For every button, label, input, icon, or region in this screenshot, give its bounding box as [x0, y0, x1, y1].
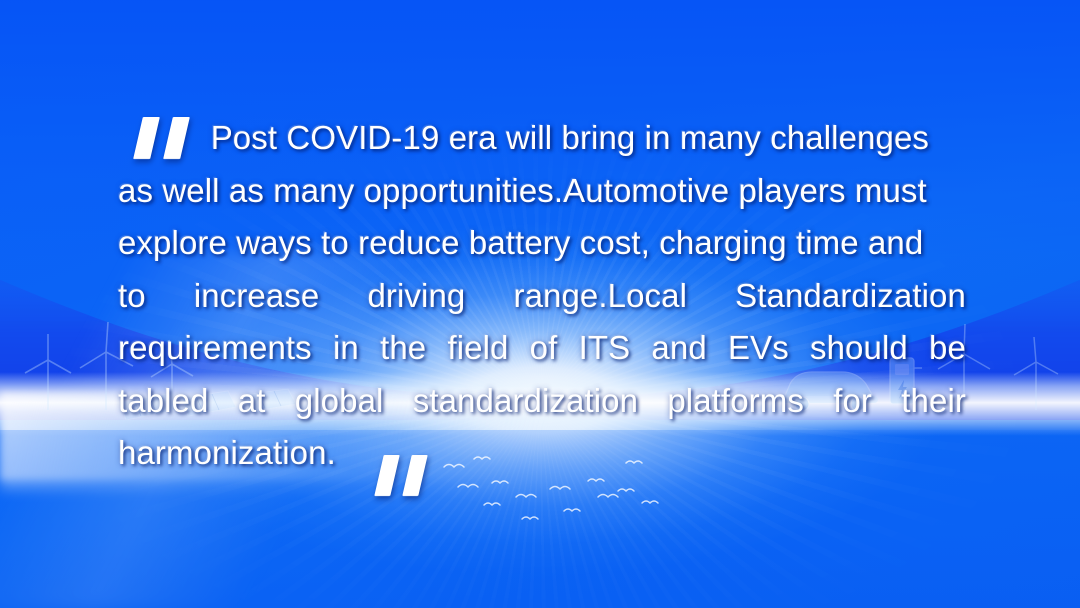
quote-word: era	[449, 112, 497, 165]
quote-text-block: Post COVID-19 era will bring in many cha…	[118, 112, 966, 480]
quote-word-space	[729, 165, 738, 218]
quote-word: will	[506, 112, 552, 165]
quote-word: cost,	[580, 217, 650, 270]
quote-word: COVID-19	[286, 112, 439, 165]
quote-word: in	[333, 322, 359, 375]
quote-word: for	[833, 375, 872, 428]
quote-word-space	[671, 112, 680, 165]
quote-word: ways	[236, 217, 312, 270]
quote-word: of	[530, 322, 558, 375]
quote-word: requirements	[118, 322, 312, 375]
quote-word-space	[460, 217, 469, 270]
quote-word: must	[855, 165, 927, 218]
quote-word: standardization	[413, 375, 638, 428]
quote-word: should	[810, 322, 908, 375]
quote-word-space	[153, 165, 162, 218]
quote-word-space	[264, 165, 273, 218]
quote-word-space	[227, 217, 236, 270]
quote-word: increase	[194, 270, 320, 323]
quote-word-space	[635, 112, 644, 165]
quote-word-space	[761, 112, 770, 165]
quote-slide: Post COVID-19 era will bring in many cha…	[0, 0, 1080, 608]
quote-word: ITS	[579, 322, 631, 375]
quote-word: at	[238, 375, 266, 428]
quote-word-space	[439, 112, 448, 165]
quote-word: opportunities.Automotive	[364, 165, 730, 218]
quote-word-space	[220, 165, 229, 218]
quote-word: battery	[469, 217, 571, 270]
quote-word: bring	[562, 112, 636, 165]
quote-word-space	[859, 217, 868, 270]
quote-word: the	[380, 322, 426, 375]
quote-word: as	[118, 165, 153, 218]
quote-word: field	[447, 322, 508, 375]
quote-line: Post COVID-19 era will bring in many cha…	[118, 112, 966, 165]
quote-line: tabledatglobalstandardizationplatformsfo…	[118, 375, 966, 428]
quote-line: harmonization.	[118, 427, 966, 480]
quote-line: requirementsinthefieldofITSandEVsshouldb…	[118, 322, 966, 375]
quote-word-space	[497, 112, 506, 165]
quote-word-space	[354, 165, 363, 218]
quote-word: in	[645, 112, 671, 165]
quote-word: and	[868, 217, 923, 270]
quote-word: range.Local	[513, 270, 687, 323]
quote-word-space	[787, 217, 796, 270]
quote-word: harmonization.	[118, 427, 336, 480]
quote-word: many	[273, 165, 354, 218]
quote-word-space	[277, 112, 286, 165]
quote-word: be	[929, 322, 966, 375]
quote-word: many	[680, 112, 761, 165]
quote-word: explore	[118, 217, 227, 270]
quote-line-indent	[118, 112, 211, 165]
quote-word: well	[162, 165, 219, 218]
quote-word: challenges	[770, 112, 929, 165]
quote-word-space	[552, 112, 561, 165]
quote-word-space	[650, 217, 659, 270]
quote-word: EVs	[728, 322, 789, 375]
quote-line: explore ways to reduce battery cost, cha…	[118, 217, 966, 270]
quote-word: to	[118, 270, 146, 323]
quote-word: platforms	[667, 375, 804, 428]
quote-word: as	[229, 165, 264, 218]
quote-line: toincreasedrivingrange.LocalStandardizat…	[118, 270, 966, 323]
quote-line: as well as many opportunities.Automotive…	[118, 165, 966, 218]
quote-word: driving	[367, 270, 465, 323]
quote-word-space	[571, 217, 580, 270]
quote-word: time	[796, 217, 859, 270]
close-quote-mark	[379, 455, 437, 499]
quote-word: charging	[659, 217, 786, 270]
quote-word: Post	[211, 112, 277, 165]
quote-word: tabled	[118, 375, 209, 428]
quote-word: players	[739, 165, 846, 218]
quote-word-space	[349, 217, 358, 270]
quote-word: to	[321, 217, 349, 270]
quote-word-space	[312, 217, 321, 270]
quote-word: Standardization	[735, 270, 966, 323]
quote-word: reduce	[358, 217, 460, 270]
quote-word: and	[651, 322, 706, 375]
quote-word: their	[901, 375, 966, 428]
quote-word: global	[295, 375, 384, 428]
quote-word-space	[846, 165, 855, 218]
